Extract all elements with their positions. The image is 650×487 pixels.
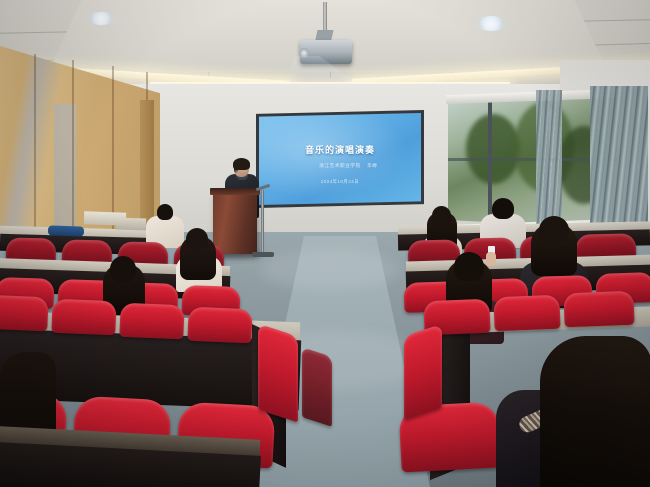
floor-reflection (260, 250, 400, 290)
slide-date: 2024年10月24日 (259, 179, 421, 185)
student-head (186, 228, 208, 250)
student-head (110, 256, 136, 282)
student-head (454, 252, 484, 281)
wood-panel-seam (34, 54, 36, 244)
seat (51, 299, 116, 336)
blue-bag (48, 225, 84, 236)
seat-back (404, 324, 442, 420)
wood-panel-seam (72, 60, 74, 246)
student-hair-foreground (540, 336, 650, 487)
student-head (539, 216, 569, 244)
foliage (466, 114, 520, 184)
podium (213, 192, 257, 254)
podium-top (210, 188, 260, 195)
student-head (157, 204, 173, 220)
slide-title: 音乐的演唱演奏 (259, 143, 421, 156)
slide-presenter-name: 华婷 (367, 163, 407, 169)
seat (493, 295, 560, 332)
seat-back (302, 347, 332, 427)
student-hand (486, 252, 496, 266)
downlight-icon (86, 12, 116, 25)
seat (119, 303, 184, 340)
downlight-icon (474, 16, 508, 31)
microphone-base (252, 252, 274, 257)
seat (563, 291, 634, 328)
seat (0, 295, 49, 332)
box-on-desk (116, 217, 146, 230)
student-head (432, 206, 451, 225)
seat (187, 307, 252, 344)
seat-back (258, 324, 298, 423)
student-head (492, 198, 514, 219)
screen-glare (259, 113, 421, 205)
projection-screen: 音乐的演唱演奏 浙江艺术职业学院 华婷 2024年10月24日 (259, 113, 421, 205)
presenter-hair (233, 158, 250, 170)
lecture-hall-photo: 音乐的演唱演奏 浙江艺术职业学院 华婷 2024年10月24日 (0, 0, 650, 487)
microphone-stand (261, 190, 264, 256)
